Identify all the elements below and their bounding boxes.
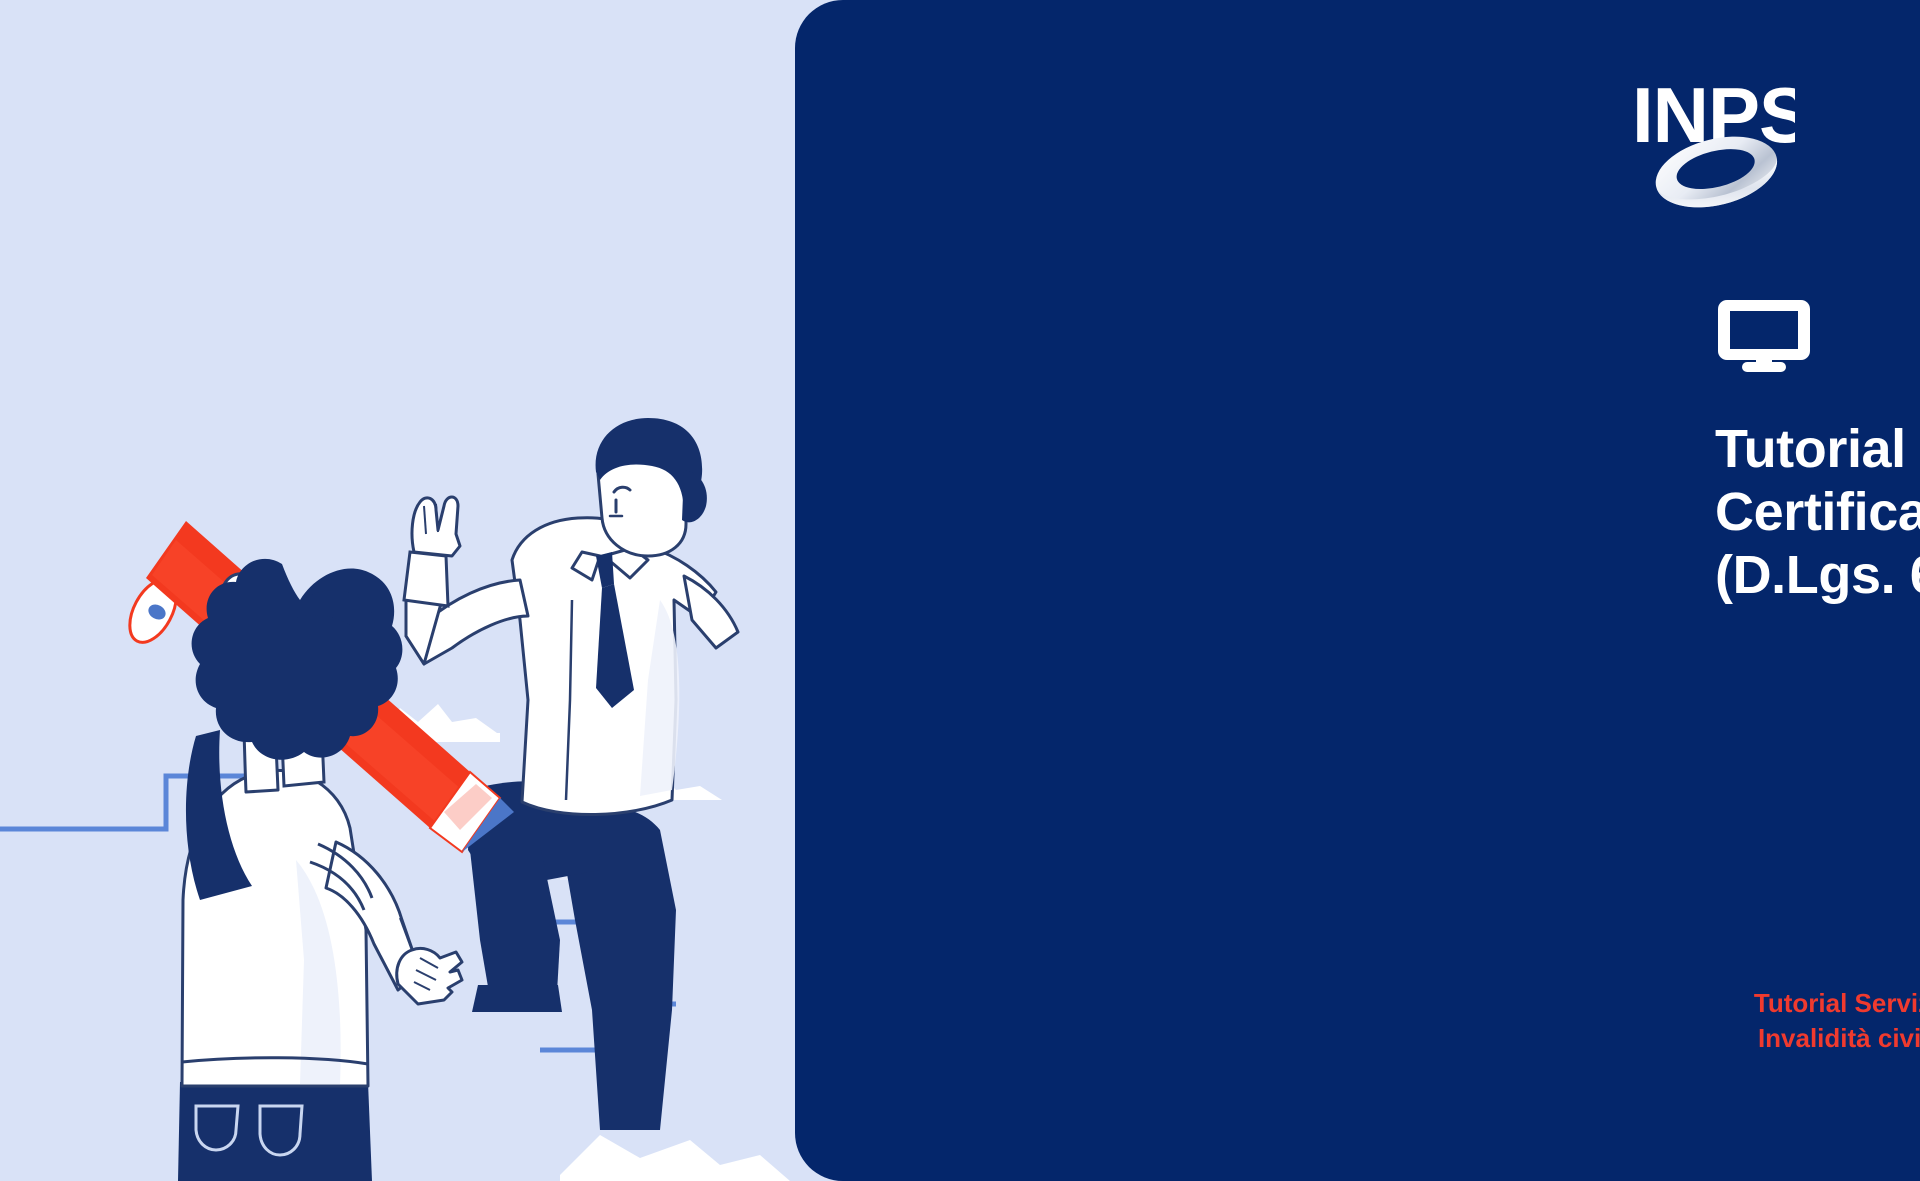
page-title: Tutorial per la compilazione del Certifi…: [1715, 418, 1920, 608]
illustration-graphic: [0, 0, 820, 1181]
inps-logo-graphic: INPS: [1630, 72, 1795, 232]
monitor-icon: [1716, 298, 1812, 374]
slide-root: INPS Tutorial per la compilazione del Ce…: [0, 0, 1920, 1181]
content-panel: INPS Tutorial per la compilazione del Ce…: [795, 0, 1920, 1181]
inps-logo: INPS: [1630, 72, 1795, 232]
subtitle-caption: Tutorial Servizio «Certificato medico in…: [1695, 986, 1920, 1056]
monitor-icon-graphic: [1716, 298, 1812, 374]
illustration: [0, 0, 820, 1181]
